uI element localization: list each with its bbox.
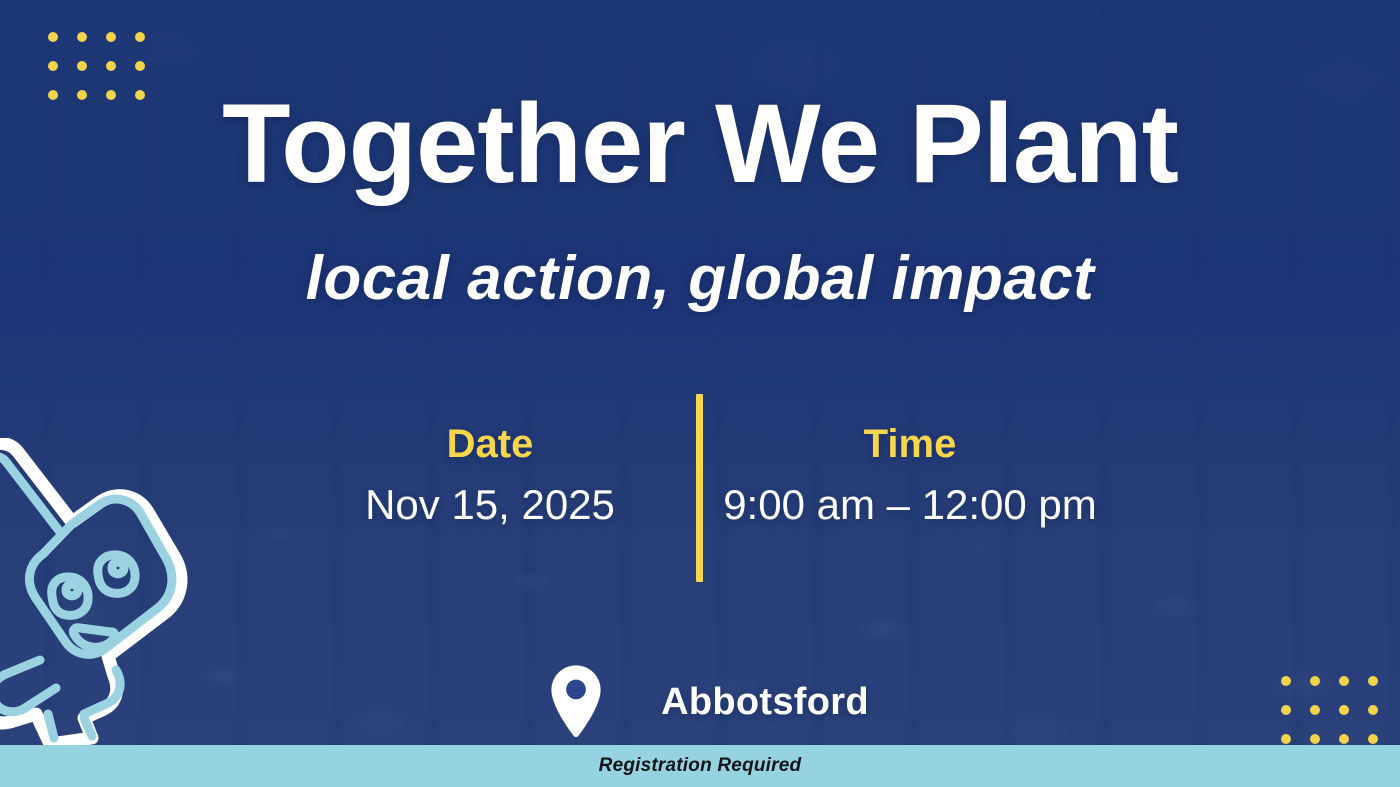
date-label: Date bbox=[280, 420, 700, 468]
dot bbox=[77, 32, 87, 42]
registration-note: Registration Required bbox=[599, 755, 802, 777]
time-label: Time bbox=[700, 420, 1120, 468]
date-value: Nov 15, 2025 bbox=[280, 480, 700, 530]
dot bbox=[106, 61, 116, 71]
dot bbox=[48, 61, 58, 71]
shovel-mascot-icon bbox=[0, 438, 214, 750]
time-value: 9:00 am – 12:00 pm bbox=[700, 480, 1120, 530]
event-poster: Together We Plant local action, global i… bbox=[0, 0, 1400, 787]
dot bbox=[135, 61, 145, 71]
dot bbox=[48, 32, 58, 42]
date-block: Date Nov 15, 2025 bbox=[280, 420, 700, 530]
dot bbox=[135, 32, 145, 42]
time-block: Time 9:00 am – 12:00 pm bbox=[700, 420, 1120, 530]
footer-bar: Registration Required bbox=[0, 745, 1400, 787]
map-pin-icon bbox=[549, 664, 603, 740]
poster-subheadline: local action, global impact bbox=[0, 248, 1400, 310]
vertical-divider-icon bbox=[696, 394, 703, 582]
poster-headline: Together We Plant bbox=[0, 88, 1400, 200]
dot bbox=[77, 61, 87, 71]
location-name: Abbotsford bbox=[661, 681, 869, 724]
dot bbox=[106, 32, 116, 42]
